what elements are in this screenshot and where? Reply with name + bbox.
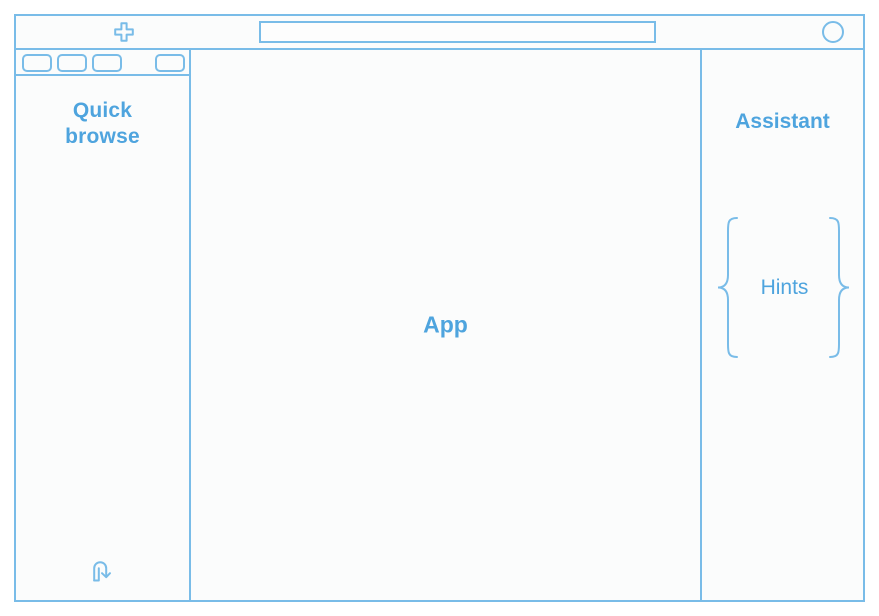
assistant-sidebar: Assistant Hints: [702, 50, 863, 600]
quick-browse-title: Quick browse: [16, 98, 189, 151]
new-tab-button[interactable]: [16, 16, 255, 48]
circle-avatar-icon[interactable]: [822, 21, 844, 43]
tab-3[interactable]: [92, 54, 122, 72]
tab-2[interactable]: [57, 54, 87, 72]
wireframe-canvas: Quick browse App Assistant: [0, 0, 879, 616]
hints-block: Hints: [712, 215, 857, 360]
tab-strip: [16, 50, 191, 76]
tab-1[interactable]: [22, 54, 52, 72]
browser-toolbar: [16, 16, 863, 50]
u-turn-refresh-icon[interactable]: [88, 556, 116, 584]
address-input[interactable]: [259, 21, 656, 43]
assistant-title: Assistant: [702, 110, 863, 134]
plus-icon: [114, 22, 134, 42]
quick-browse-sidebar: Quick browse: [16, 76, 191, 600]
tab-overflow[interactable]: [155, 54, 185, 72]
app-label: App: [191, 312, 700, 339]
quick-browse-title-line-2: browse: [16, 124, 189, 150]
curly-brace-right-icon: [825, 215, 851, 360]
browser-window: Quick browse App Assistant: [14, 14, 865, 602]
app-content-area[interactable]: App: [191, 50, 702, 600]
quick-browse-title-line-1: Quick: [16, 98, 189, 124]
